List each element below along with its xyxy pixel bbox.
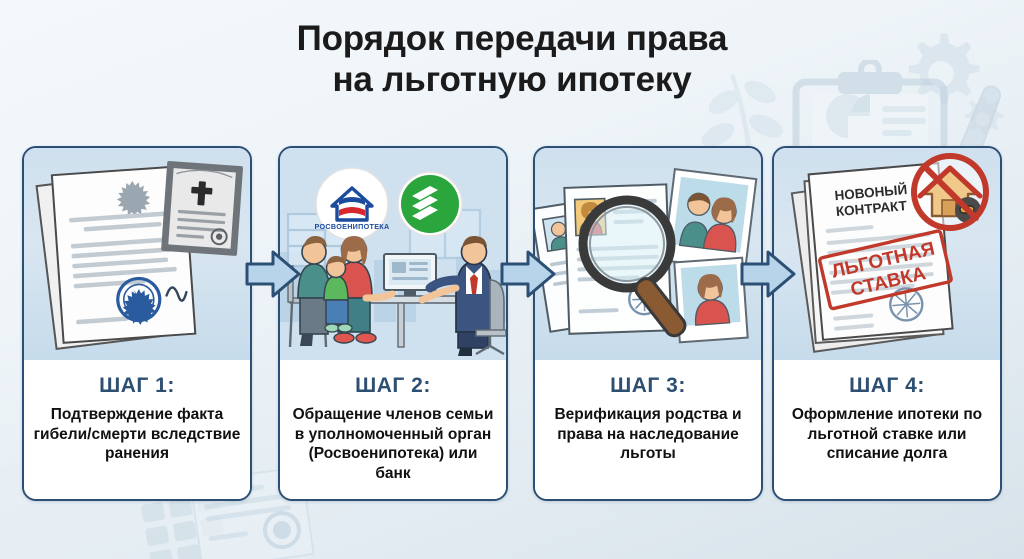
step-4-illustration: НОВОНЫЙ КОНТРАКТ: [774, 148, 1000, 360]
step-3-caption: ШАГ 3: Верификация родства и права на на…: [535, 360, 761, 499]
step-1-caption: ШАГ 1: Подтверждение факта гибели/смерти…: [24, 360, 250, 499]
step-3-text: Верификация родства и права на наследова…: [544, 405, 752, 464]
step-2-caption: ШАГ 2: Обращение членов семьи в уполномо…: [280, 360, 506, 499]
step-2-text: Обращение членов семьи в уполномоченный …: [289, 405, 497, 483]
step-card-3[interactable]: ШАГ 3: Верификация родства и права на на…: [533, 146, 763, 501]
sberbank-logo: [398, 172, 462, 236]
page-title: Порядок передачи права на льготную ипоте…: [0, 18, 1024, 101]
step-4-text: Оформление ипотеки по льготной ставке ил…: [783, 405, 991, 464]
step-card-4[interactable]: НОВОНЫЙ КОНТРАКТ: [772, 146, 1002, 501]
page-title-line2: на льготную ипотеку: [0, 59, 1024, 100]
death-certificate-icon: [161, 161, 243, 256]
crossed-out-house-icon: [912, 154, 988, 230]
step-3-heading: ШАГ 3:: [544, 374, 752, 398]
arrow-step2-to-step3: [500, 246, 556, 302]
page-title-line1: Порядок передачи права: [0, 18, 1024, 59]
step-3-illustration: [535, 148, 761, 360]
steps-container: ШАГ 1: Подтверждение факта гибели/смерти…: [0, 146, 1024, 506]
step-4-caption: ШАГ 4: Оформление ипотеки по льготной ст…: [774, 360, 1000, 499]
step-card-1[interactable]: ШАГ 1: Подтверждение факта гибели/смерти…: [22, 146, 252, 501]
arrow-step1-to-step2: [245, 246, 301, 302]
step-1-text: Подтверждение факта гибели/смерти вследс…: [33, 405, 241, 464]
step-1-heading: ШАГ 1:: [33, 374, 241, 398]
arrow-step3-to-step4: [740, 246, 796, 302]
step-1-illustration: [24, 148, 250, 360]
svg-text:РОСВОЕНИПОТЕКА: РОСВОЕНИПОТЕКА: [315, 222, 390, 231]
step-2-heading: ШАГ 2:: [289, 374, 497, 398]
rosvoenipoteka-logo: РОСВОЕНИПОТЕКА: [315, 168, 390, 240]
step-4-heading: ШАГ 4:: [783, 374, 991, 398]
step-card-2[interactable]: РОСВОЕНИПОТЕКА: [278, 146, 508, 501]
step-2-illustration: РОСВОЕНИПОТЕКА: [280, 148, 506, 360]
